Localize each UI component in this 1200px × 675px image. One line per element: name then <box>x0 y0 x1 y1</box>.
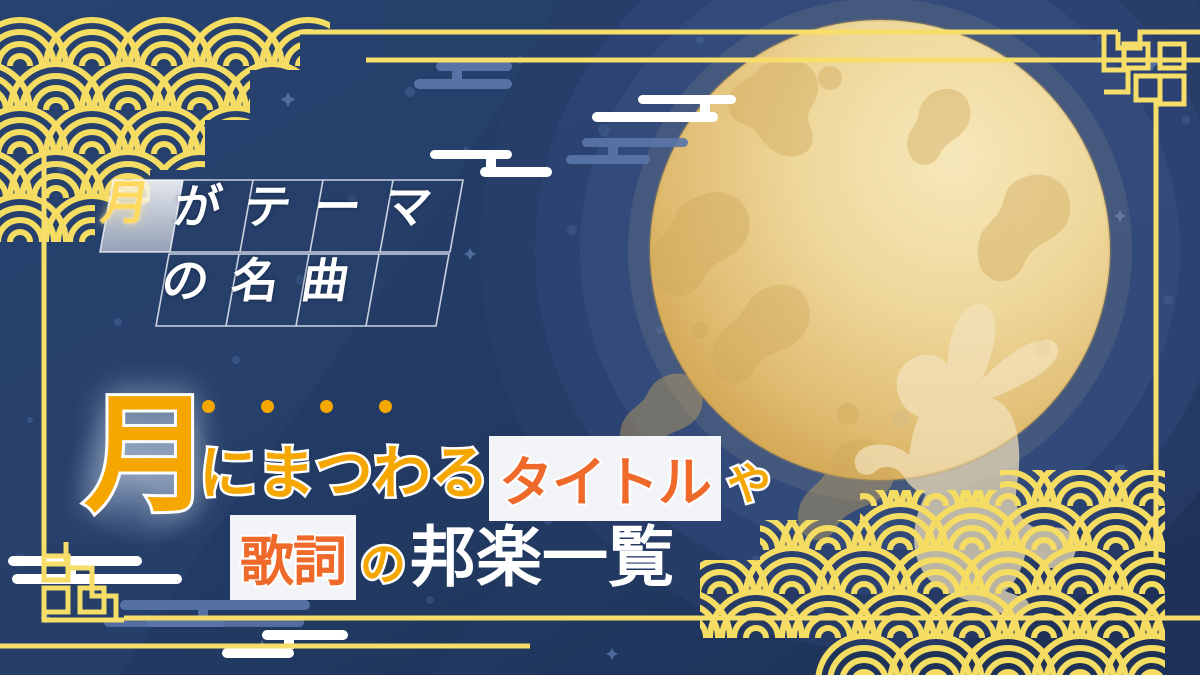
subtitle-block: 月 が テ ー マ の 名 曲 <box>86 168 506 338</box>
subtitle-char-2: テ <box>240 184 294 231</box>
headline-seg-ya: や <box>727 459 771 510</box>
main-headline: 月 にまつわるタイトルや 歌詞の邦楽一覧 <box>84 392 784 592</box>
headline-seg-nimatsuwaru: にまつわる <box>199 439 489 507</box>
subtitle-char-1: が <box>170 184 224 231</box>
headline-badge-lyrics-text: 歌詞 <box>240 530 346 593</box>
poster-canvas: 月 が テ ー マ の 名 曲 月 にまつわるタイトルや 歌詞の邦楽一覧 <box>0 0 1200 675</box>
subtitle-char-5: の <box>158 258 212 305</box>
subtitle-char-0: 月 <box>98 180 152 227</box>
headline-seg-no: の <box>360 537 406 591</box>
emphasis-dots <box>202 400 502 416</box>
headline-line-2: 歌詞の邦楽一覧 <box>230 504 674 600</box>
subtitle-char-6: 名 <box>228 258 282 305</box>
subtitle-char-4: マ <box>380 184 434 231</box>
subtitle-char-3: ー <box>310 184 364 231</box>
headline-lead-char: 月 <box>84 392 212 520</box>
headline-badge-lyrics: 歌詞 <box>230 515 356 600</box>
headline-seg-hougaku-ichiran: 邦楽一覧 <box>410 519 674 596</box>
subtitle-char-7: 曲 <box>298 258 352 305</box>
